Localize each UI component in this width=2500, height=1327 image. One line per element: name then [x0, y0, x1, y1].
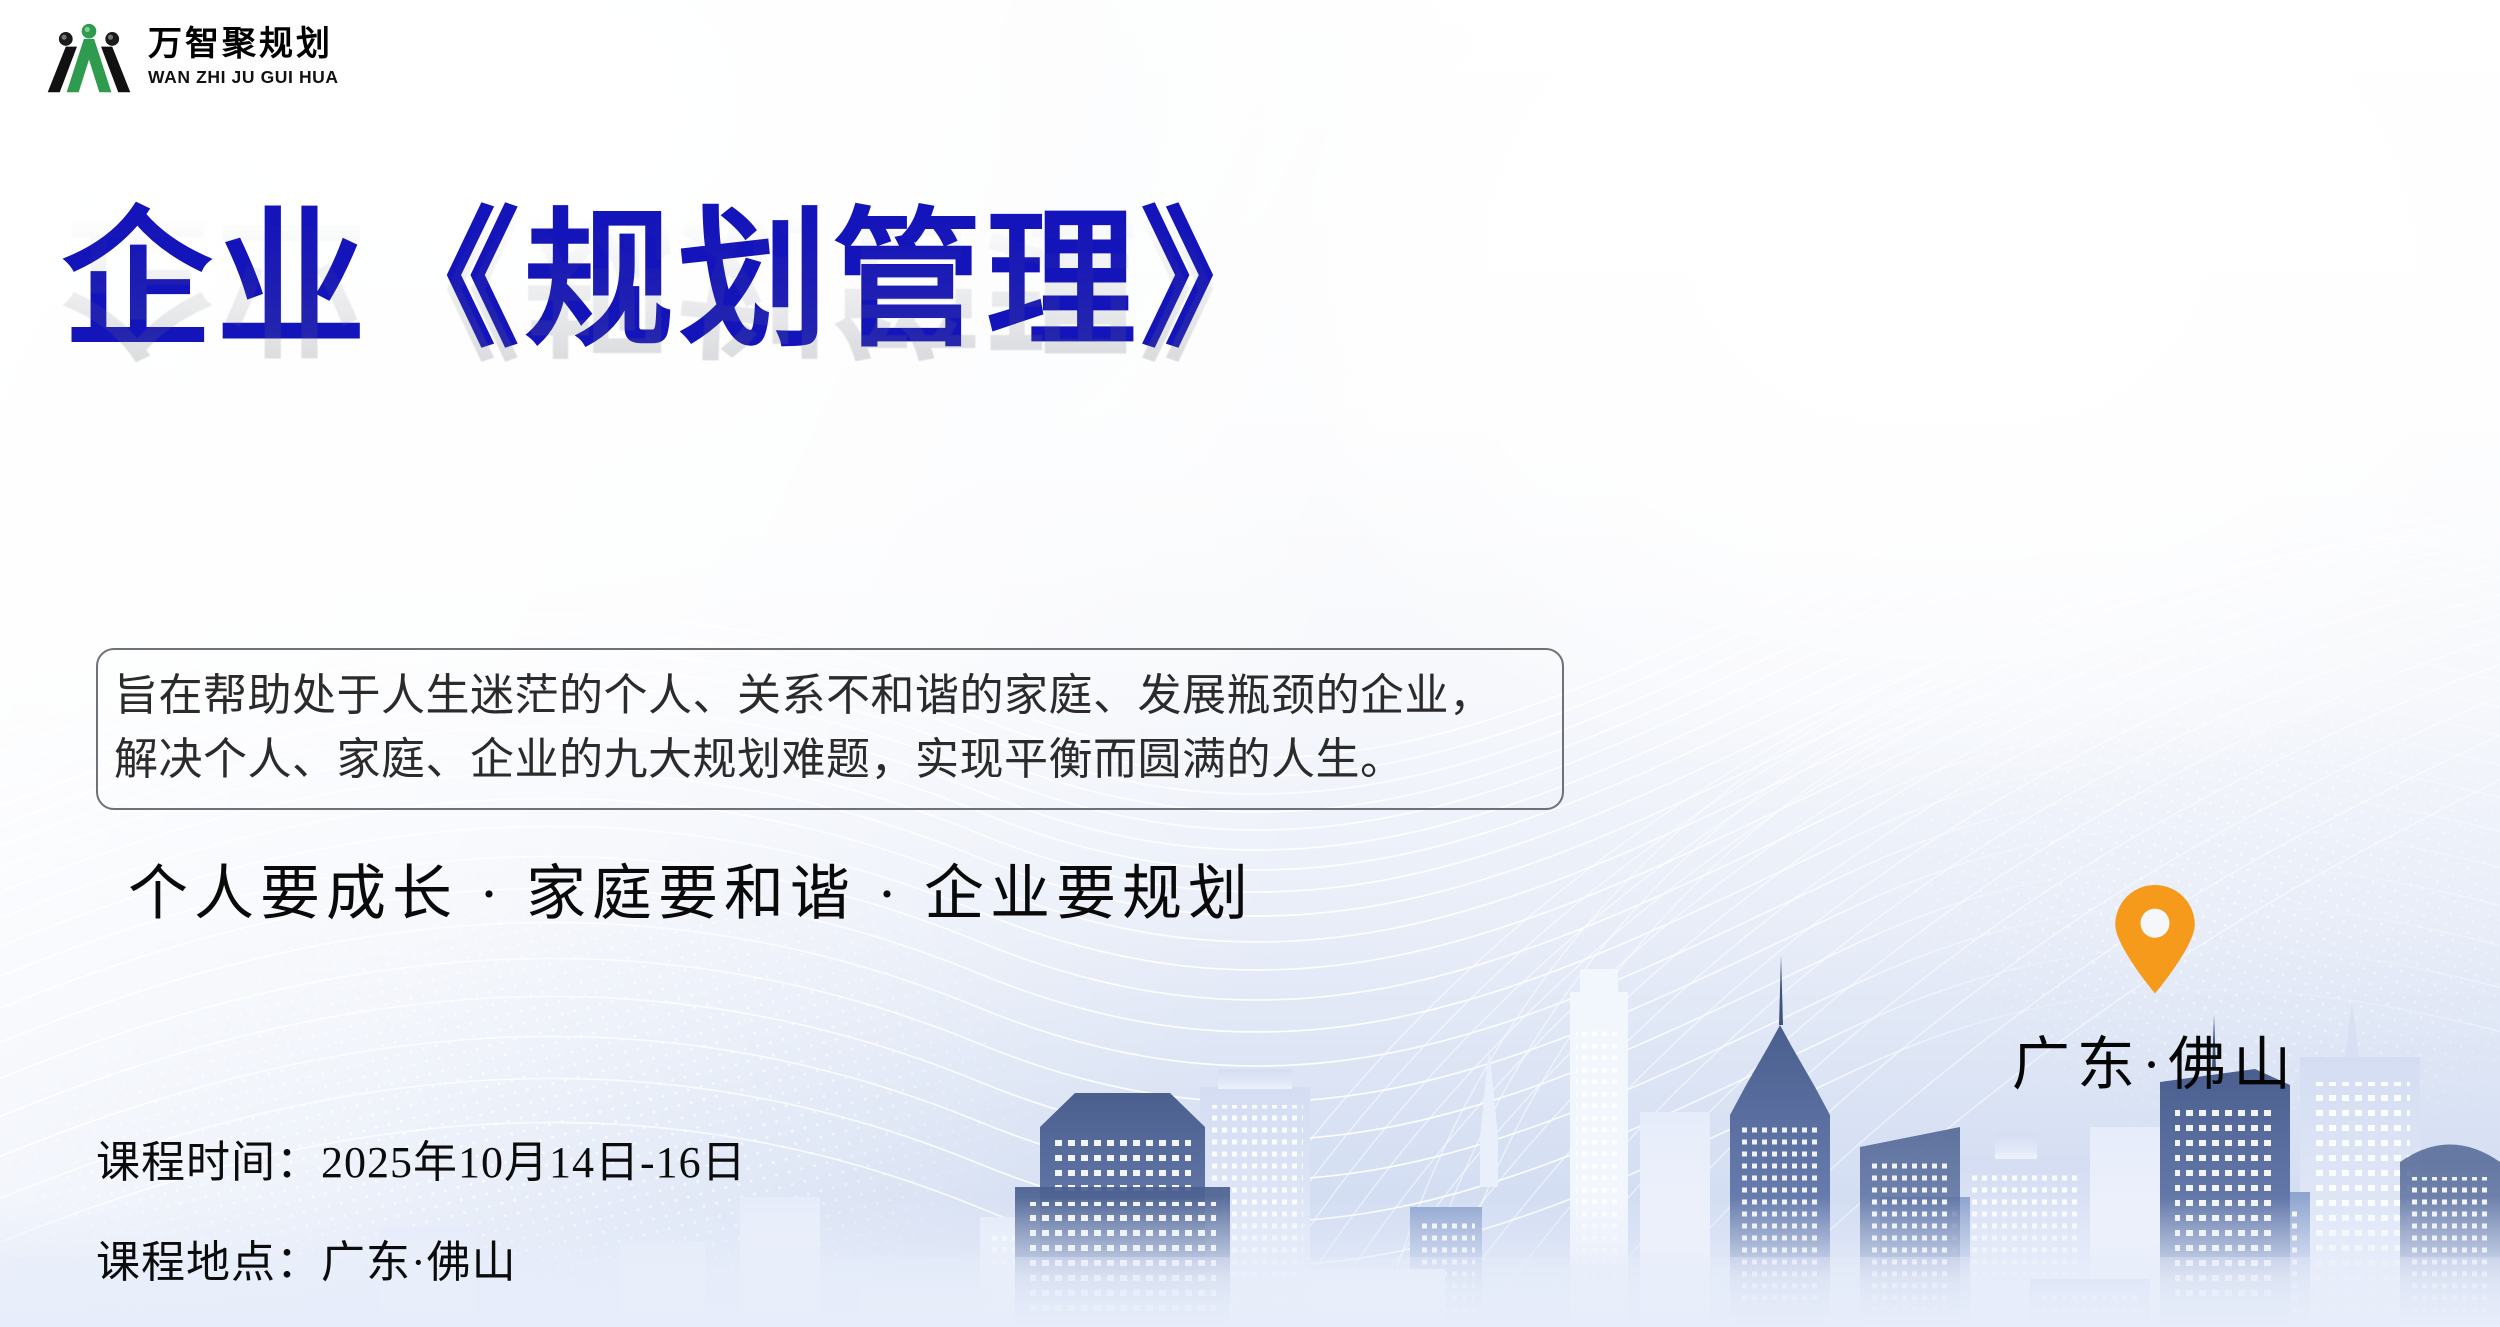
brand-name-cn: 万智聚规划 [148, 28, 339, 62]
course-info-block: 课程时间：2025年10月14日-16日 课程地点：广东·佛山 [96, 1126, 747, 1290]
poster-canvas: 万智聚规划 WAN ZHI JU GUI HUA 企业《规划管理》 企业《规划管… [0, 0, 2500, 1327]
slogan-text: 个人要成长 · 家庭要和谐 · 企业要规划 [128, 845, 1254, 932]
three-people-logo-icon [46, 18, 132, 96]
description-box: 旨在帮助处于人生迷茫的个人、关系不和谐的家庭、发展瓶颈的企业， 解决个人、家庭、… [96, 648, 1564, 810]
map-pin-icon [2109, 885, 2201, 995]
page-title: 企业《规划管理》 [62, 196, 1622, 364]
brand-logo[interactable]: 万智聚规划 WAN ZHI JU GUI HUA [46, 18, 339, 96]
course-time: 课程时间：2025年10月14日-16日 [96, 1126, 747, 1190]
location-badge: 广东·佛山 [1955, 885, 2355, 1101]
description-line-1: 旨在帮助处于人生迷茫的个人、关系不和谐的家庭、发展瓶颈的企业， [114, 664, 1548, 728]
location-label: 广东·佛山 [2012, 1017, 2298, 1101]
description-line-2: 解决个人、家庭、企业的九大规划难题，实现平衡而圆满的人生。 [114, 728, 1548, 792]
course-place: 课程地点：广东·佛山 [96, 1226, 747, 1290]
brand-name-en: WAN ZHI JU GUI HUA [148, 69, 339, 87]
hero-title-block: 企业《规划管理》 企业《规划管理》 [62, 196, 1622, 364]
